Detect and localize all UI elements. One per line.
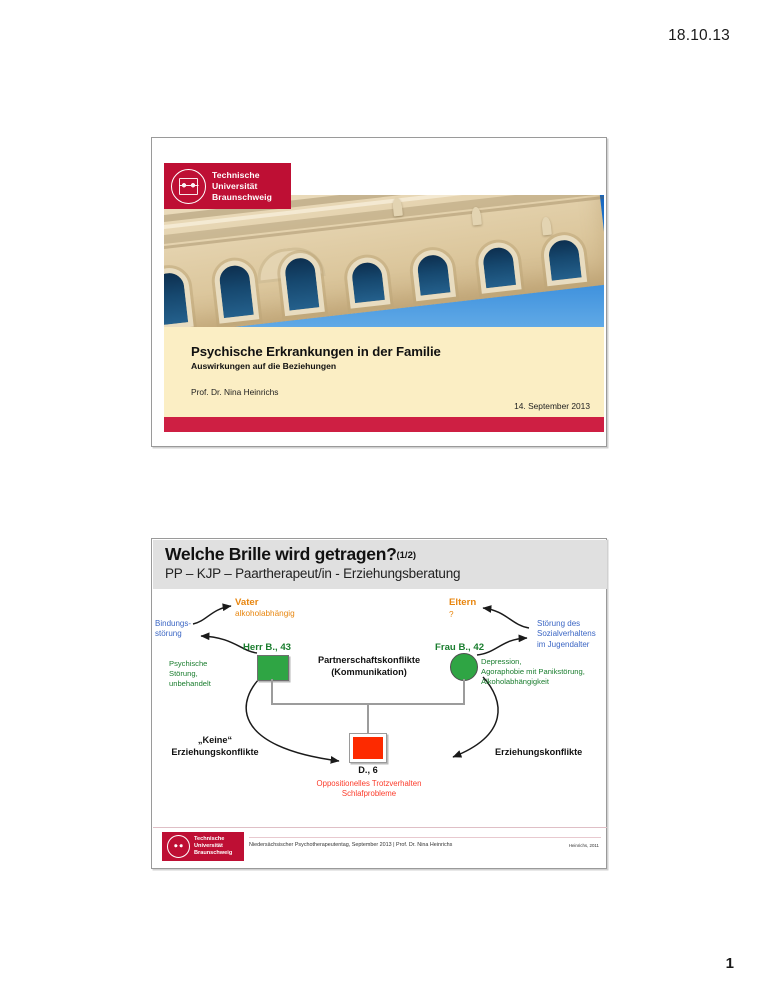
page-number: 1 — [726, 955, 734, 972]
label-child: D., 6 — [349, 765, 387, 777]
slide-genogram[interactable]: Welche Brille wird getragen?(1/2) PP – K… — [151, 538, 607, 869]
slide-title[interactable]: Technische Universität Braunschweig Psyc… — [151, 137, 607, 447]
university-building-photo — [164, 195, 604, 327]
label-stoerung-sozialverhalten: Störung desSozialverhaltensim Jugendalte… — [537, 619, 611, 650]
footer-logo-line-3: Braunschweig — [194, 850, 232, 857]
genogram-heading: Welche Brille wird getragen?(1/2) — [165, 545, 607, 565]
label-herr-b-note: Psychische Störung,unbehandelt — [169, 659, 231, 689]
page-date-stamp: 18.10.13 — [668, 27, 730, 45]
label-frau-b: Frau B., 42 — [435, 642, 484, 653]
tu-braunschweig-seal-icon — [167, 835, 190, 858]
genogram-node-child[interactable] — [349, 733, 387, 763]
label-erziehungskonflikte: Erziehungskonflikte — [495, 747, 582, 759]
label-herr-b: Herr B., 43 — [243, 642, 291, 653]
title-caption-panel: Psychische Erkrankungen in der Familie A… — [164, 327, 604, 417]
photo-arched-window — [213, 259, 260, 324]
label-keine-erziehungskonflikte: „Keine“Erziehungskonflikte — [159, 735, 271, 759]
photo-arched-window — [164, 267, 194, 327]
genogram-heading-counter: (1/2) — [396, 550, 416, 561]
tu-braunschweig-seal-icon — [171, 169, 206, 204]
child-symptom-fill — [353, 737, 383, 759]
label-partnerschaftskonflikte: Partnerschaftskonflikte(Kommunikation) — [305, 655, 433, 679]
presentation-author: Prof. Dr. Nina Heinrichs — [191, 387, 588, 397]
label-vater: Vater — [235, 597, 258, 608]
logo-line-1: Technische — [212, 170, 272, 181]
genogram-header: Welche Brille wird getragen?(1/2) PP – K… — [153, 540, 607, 589]
presentation-title: Psychische Erkrankungen in der Familie — [191, 344, 588, 359]
footer-hairline — [249, 837, 601, 838]
label-bindungsstoerung: Bindungs-störung — [155, 619, 207, 640]
footer-tu-logo: Technische Universität Braunschweig — [162, 832, 244, 861]
photo-arched-window — [346, 256, 391, 309]
photo-arched-window — [411, 248, 456, 301]
footer-logo-line-1: Technische — [194, 836, 232, 843]
arrow-stoerung-to-eltern — [483, 608, 529, 628]
genogram-canvas: Vater alkoholabhängig Bindungs-störung E… — [153, 589, 607, 819]
genogram-node-mother[interactable] — [450, 653, 478, 681]
footer-logo-line-2: Universität — [194, 843, 232, 850]
genogram-subheading: PP – KJP – Paartherapeut/in - Erziehungs… — [165, 566, 607, 581]
genogram-node-father[interactable] — [257, 655, 289, 681]
logo-wordmark: Technische Universität Braunschweig — [212, 170, 272, 203]
label-eltern: Eltern — [449, 597, 476, 608]
label-eltern-note: ? — [449, 610, 454, 619]
photo-arched-window — [477, 241, 522, 294]
arrow-frau-to-child-problems — [453, 677, 498, 757]
label-child-symptoms: Oppositionelles TrotzverhaltenSchlafprob… — [295, 779, 443, 799]
connector-child-drop — [367, 703, 369, 735]
genogram-heading-text: Welche Brille wird getragen? — [165, 544, 396, 564]
footer-credit: Heinrichs, 2011 — [569, 843, 599, 848]
logo-line-2: Universität — [212, 181, 272, 192]
connector-mother-down — [463, 679, 465, 705]
tu-braunschweig-logo: Technische Universität Braunschweig — [164, 163, 291, 209]
label-frau-b-note: Depression,Agoraphobie mit Panikstörung,… — [481, 657, 609, 687]
arrow-frau-to-stoerung — [477, 638, 527, 655]
logo-line-3: Braunschweig — [212, 192, 272, 203]
photo-arched-window — [542, 233, 587, 286]
presentation-subtitle: Auswirkungen auf die Beziehungen — [191, 361, 588, 371]
photo-arched-window — [279, 252, 326, 317]
presentation-date: 14. September 2013 — [514, 401, 590, 411]
slide-title-body: Technische Universität Braunschweig Psyc… — [152, 138, 606, 446]
title-red-bar — [164, 417, 604, 432]
label-vater-note: alkoholabhängig — [235, 609, 295, 618]
footer-event-text: Niedersächsischer Psychotherapeutentag, … — [249, 842, 452, 848]
footer-logo-wordmark: Technische Universität Braunschweig — [194, 836, 232, 858]
genogram-footer: Technische Universität Braunschweig Nied… — [153, 827, 607, 867]
connector-father-down — [271, 679, 273, 705]
